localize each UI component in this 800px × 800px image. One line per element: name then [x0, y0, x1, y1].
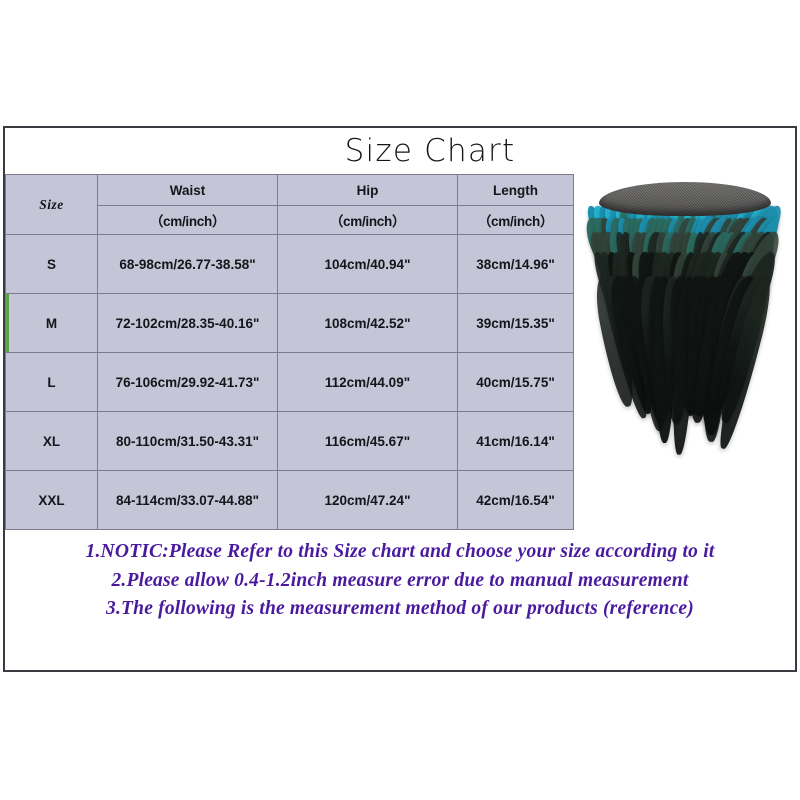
cell-hip: 120cm/47.24" [278, 471, 458, 530]
cell-size: XL [6, 412, 98, 471]
cell-waist: 80-110cm/31.50-43.31" [98, 412, 278, 471]
product-photo: teal and black feather skirt with grey w… [574, 174, 795, 531]
notice-line-3: 3.The following is the measurement metho… [5, 595, 795, 624]
title-bar: Size Chart [5, 128, 795, 174]
feather-skirt-illustration [582, 180, 788, 430]
cell-size: XXL [6, 471, 98, 530]
cell-waist: 84-114cm/33.07-44.88" [98, 471, 278, 530]
table-row[interactable]: XL80-110cm/31.50-43.31"116cm/45.67"41cm/… [6, 412, 574, 471]
column-unit-length: （cm/inch） [458, 206, 574, 235]
table-row[interactable]: M72-102cm/28.35-40.16"108cm/42.52"39cm/1… [6, 294, 574, 353]
table-row[interactable]: S68-98cm/26.77-38.58"104cm/40.94"38cm/14… [6, 235, 574, 294]
column-header-waist: Waist [98, 175, 278, 206]
cell-length: 40cm/15.75" [458, 353, 574, 412]
cell-hip: 108cm/42.52" [278, 294, 458, 353]
cell-waist: 68-98cm/26.77-38.58" [98, 235, 278, 294]
notice-line-2: 2.Please allow 0.4-1.2inch measure error… [5, 567, 795, 596]
cell-length: 39cm/15.35" [458, 294, 574, 353]
notice-block: 1.NOTIC:Please Refer to this Size chart … [5, 531, 795, 624]
cell-size: M [6, 294, 98, 353]
cell-hip: 104cm/40.94" [278, 235, 458, 294]
waistband [599, 182, 771, 216]
table-row[interactable]: XXL84-114cm/33.07-44.88"120cm/47.24"42cm… [6, 471, 574, 530]
column-header-length: Length [458, 175, 574, 206]
cell-length: 38cm/14.96" [458, 235, 574, 294]
cell-waist: 72-102cm/28.35-40.16" [98, 294, 278, 353]
cell-hip: 116cm/45.67" [278, 412, 458, 471]
column-unit-waist: （cm/inch） [98, 206, 278, 235]
cell-waist: 76-106cm/29.92-41.73" [98, 353, 278, 412]
notice-line-1: 1.NOTIC:Please Refer to this Size chart … [5, 538, 795, 567]
cell-size: L [6, 353, 98, 412]
cell-hip: 112cm/44.09" [278, 353, 458, 412]
column-unit-hip: （cm/inch） [278, 206, 458, 235]
page-title: Size Chart [345, 133, 516, 169]
chart-body: SizeWaistHipLength（cm/inch）（cm/inch）（cm/… [5, 174, 795, 531]
size-chart-panel: Size Chart SizeWaistHipLength（cm/inch）（c… [3, 126, 797, 672]
cell-length: 41cm/16.14" [458, 412, 574, 471]
cell-length: 42cm/16.54" [458, 471, 574, 530]
table-header-row: SizeWaistHipLength [6, 175, 574, 206]
column-header-hip: Hip [278, 175, 458, 206]
column-header-size: Size [6, 175, 98, 235]
cell-size: S [6, 235, 98, 294]
table-row[interactable]: L76-106cm/29.92-41.73"112cm/44.09"40cm/1… [6, 353, 574, 412]
size-table: SizeWaistHipLength（cm/inch）（cm/inch）（cm/… [5, 174, 574, 530]
